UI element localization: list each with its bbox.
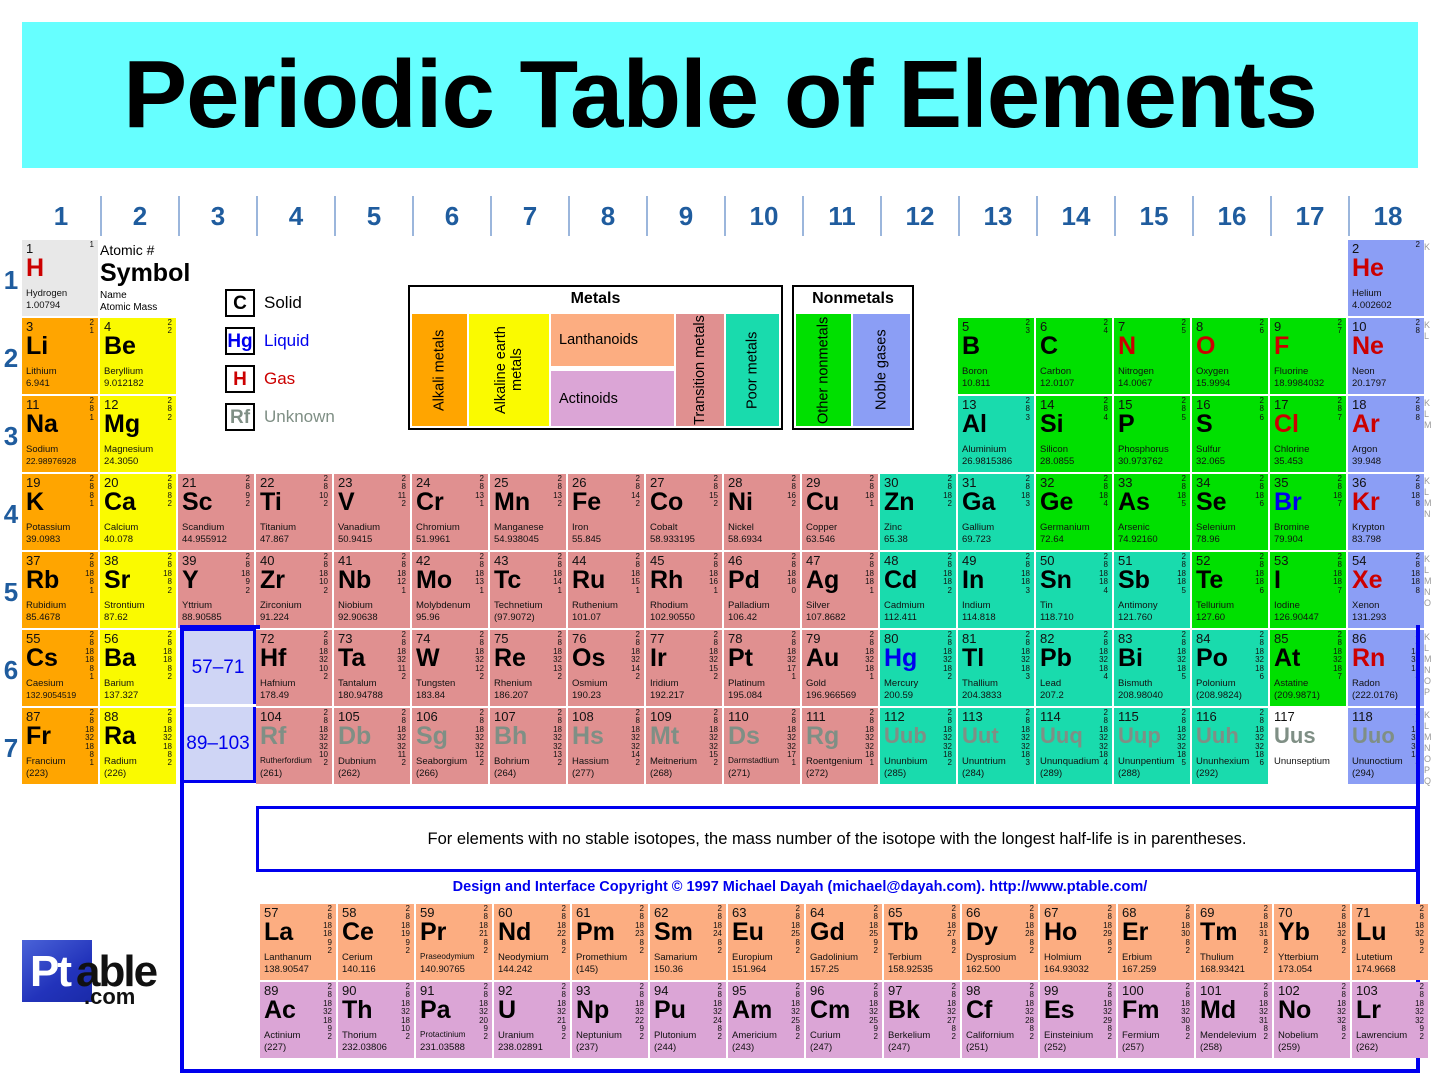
element-cell-Bi[interactable]: 83281832185BiBismuth208.98040	[1114, 630, 1190, 706]
element-name: Sodium	[26, 444, 58, 455]
element-cell-Fe[interactable]: 2628142FeIron55.845	[568, 474, 644, 550]
atomic-mass: 58.6934	[728, 534, 762, 545]
element-cell-At[interactable]: 85281832187AtAstatine(209.9871)	[1270, 630, 1346, 706]
element-symbol: Xe	[1352, 567, 1383, 593]
element-name: Iridium	[650, 678, 679, 689]
element-symbol: Lr	[1356, 997, 1381, 1023]
atomic-mass: (259)	[1278, 1042, 1300, 1053]
electron-shells: 28183	[1021, 475, 1030, 509]
element-cell-Te[interactable]: 522818186TeTellurium127.60	[1192, 552, 1268, 628]
element-name: Dubnium	[338, 756, 376, 767]
electron-shells: 28183232181	[865, 709, 874, 768]
element-cell-Rh[interactable]: 452818161RhRhodium102.90550	[646, 552, 722, 628]
atomic-mass: 63.546	[806, 534, 835, 545]
electron-shells: 26	[1260, 319, 1264, 336]
element-cell-Eu[interactable]: 6328182582EuEuropium151.964	[728, 904, 804, 980]
shell-letter-L: L	[1424, 643, 1438, 654]
element-cell-Hs[interactable]: 10828183232142HsHassium(277)	[568, 708, 644, 784]
element-symbol: Lu	[1356, 919, 1387, 945]
element-cell-Am[interactable]: 952818322582AmAmericium(243)	[728, 982, 804, 1058]
atomic-mass: (247)	[888, 1042, 910, 1053]
element-symbol: Sc	[182, 489, 213, 515]
element-name: Niobium	[338, 600, 373, 611]
element-cell-Tl[interactable]: 81281832183TlThallium204.3833	[958, 630, 1034, 706]
element-name: Boron	[962, 366, 987, 377]
element-cell-Co[interactable]: 2728152CoCobalt58.933195	[646, 474, 722, 550]
element-cell-Uus[interactable]: 117UusUnunseptium	[1270, 708, 1346, 784]
electron-shells: 2	[1416, 241, 1420, 249]
element-cell-Tb[interactable]: 6528182782TbTerbium158.92535	[884, 904, 960, 980]
electron-shells: 281832186	[1255, 631, 1264, 681]
logo-text-com: .com	[84, 986, 135, 1008]
element-name: Caesium	[26, 678, 64, 689]
element-cell-Yb[interactable]: 7028183282YbYtterbium173.054	[1274, 904, 1350, 980]
element-cell-Mg[interactable]: 12282MgMagnesium24.3050	[100, 396, 176, 472]
atomic-mass: 106.42	[728, 612, 757, 623]
element-cell-Lu[interactable]: 7128183292LuLutetium174.9668	[1352, 904, 1428, 980]
atomic-mass: (257)	[1122, 1042, 1144, 1053]
element-cell-Ce[interactable]: 5828181992CeCerium140.116	[338, 904, 414, 980]
atomic-mass: 140.90765	[420, 964, 465, 975]
copyright-notice: Design and Interface Copyright © 1997 Mi…	[180, 876, 1420, 898]
shell-letter-K: K	[1424, 320, 1438, 331]
electron-shells: 2818322882	[1025, 983, 1034, 1042]
legend-chip-other-nonmetals: Other nonmetals	[796, 314, 851, 426]
state-legend-row-gas: HGas	[225, 361, 335, 397]
element-cell-Rb[interactable]: 37281881RbRubidium85.4678	[22, 552, 98, 628]
element-cell-Pu[interactable]: 942818322482PuPlutonium(244)	[650, 982, 726, 1058]
element-cell-Kr[interactable]: 3628188KrKrypton83.798	[1348, 474, 1424, 550]
element-symbol: Ca	[104, 489, 136, 515]
key-label-atomic-number: Atomic #	[100, 242, 154, 258]
element-cell-Y[interactable]: 39281892YYttrium88.90585	[178, 552, 254, 628]
shell-label-period-3: KLM	[1424, 398, 1438, 431]
shell-letter-O: O	[1424, 676, 1438, 687]
element-name: Thulium	[1200, 952, 1234, 963]
electron-shells: 2818102	[319, 553, 328, 595]
element-name: Lead	[1040, 678, 1061, 689]
page-title-banner: Periodic Table of Elements	[22, 22, 1418, 168]
element-cell-Er[interactable]: 6828183082ErErbium167.259	[1118, 904, 1194, 980]
element-cell-Br[interactable]: 3528187BrBromine79.904	[1270, 474, 1346, 550]
element-cell-Th[interactable]: 9028183218102ThThorium232.03806	[338, 982, 414, 1058]
element-cell-He[interactable]: 22HeHelium4.002602	[1348, 240, 1424, 316]
key-label-name: Name	[100, 290, 127, 301]
element-cell-Ca[interactable]: 202882CaCalcium40.078	[100, 474, 176, 550]
electron-shells: 28181	[865, 475, 874, 509]
element-name: Erbium	[1122, 952, 1152, 963]
atomic-mass: 102.90550	[650, 612, 695, 623]
element-cell-Ru[interactable]: 442818151RuRuthenium101.07	[568, 552, 644, 628]
atomic-mass: (222.0176)	[1352, 690, 1398, 701]
element-cell-Ds[interactable]: 11028183232171DsDarmstadtium(271)	[724, 708, 800, 784]
element-cell-Pb[interactable]: 82281832184PbLead207.2	[1036, 630, 1112, 706]
element-symbol: Am	[732, 997, 772, 1023]
state-legend-label: Gas	[264, 369, 295, 389]
atomic-number: 117	[1274, 709, 1295, 724]
electron-shells: 28102	[319, 475, 328, 509]
element-cell-Pm[interactable]: 6128182382PmPromethium(145)	[572, 904, 648, 980]
element-name: Neptunium	[576, 1030, 622, 1041]
atomic-mass: (97.9072)	[494, 612, 535, 623]
electron-shells: 2818180	[787, 553, 796, 595]
electron-shells: 28181892	[323, 905, 332, 955]
electron-shells: 2818322982	[1103, 983, 1112, 1042]
legend-metals-label: Metals	[571, 290, 621, 308]
element-cell-Uuh[interactable]: 11628183232186UuhUnunhexium(292)	[1192, 708, 1268, 784]
element-cell-Rn[interactable]: 86281832188RnRadon(222.0176)	[1348, 630, 1424, 706]
electron-shells: 28183218102	[401, 983, 410, 1042]
element-cell-Lr[interactable]: 1032818323292LrLawrencium(262)	[1352, 982, 1428, 1058]
element-cell-Re[interactable]: 75281832132ReRhenium186.207	[490, 630, 566, 706]
element-cell-Db[interactable]: 10528183232112DbDubnium(262)	[334, 708, 410, 784]
element-cell-Hf[interactable]: 72281832102HfHafnium178.49	[256, 630, 332, 706]
element-cell-No[interactable]: 1022818323282NoNobelium(259)	[1274, 982, 1350, 1058]
element-cell-K[interactable]: 192881KPotassium39.0983	[22, 474, 98, 550]
element-symbol: Ti	[260, 489, 282, 515]
element-cell-Cs[interactable]: 5528181881CsCaesium132.9054519	[22, 630, 98, 706]
element-cell-Po[interactable]: 84281832186PoPolonium(208.9824)	[1192, 630, 1268, 706]
element-symbol: Kr	[1352, 489, 1380, 515]
element-cell-Hg[interactable]: 80281832182HgMercury200.59	[880, 630, 956, 706]
element-cell-Ir[interactable]: 77281832152IrIridium192.217	[646, 630, 722, 706]
element-cell-Ne[interactable]: 1028NeNeon20.1797	[1348, 318, 1424, 394]
element-cell-Ac[interactable]: 892818321892AcActinium(227)	[260, 982, 336, 1058]
atomic-mass: 126.90447	[1274, 612, 1319, 623]
element-cell-Sn[interactable]: 502818184SnTin118.710	[1036, 552, 1112, 628]
element-symbol: Cm	[810, 997, 850, 1023]
electron-shells: 22	[168, 319, 172, 336]
atomic-mass: 200.59	[884, 690, 913, 701]
element-symbol: Pd	[728, 567, 760, 593]
element-cell-Sr[interactable]: 38281882SrStrontium87.62	[100, 552, 176, 628]
element-cell-Ar[interactable]: 18288ArArgon39.948	[1348, 396, 1424, 472]
atomic-mass: 190.23	[572, 690, 601, 701]
element-name: Aluminium	[962, 444, 1006, 455]
atomic-mass: 20.1797	[1352, 378, 1386, 389]
atomic-mass: 30.973762	[1118, 456, 1163, 467]
element-name: Beryllium	[104, 366, 143, 377]
element-cell-Os[interactable]: 76281832142OsOsmium190.23	[568, 630, 644, 706]
atomic-mass: (209.9871)	[1274, 690, 1320, 701]
element-symbol: Co	[650, 489, 683, 515]
element-cell-F[interactable]: 927FFluorine18.9984032	[1270, 318, 1346, 394]
actinoid-range-label: 89–103	[186, 733, 249, 755]
element-symbol: Uut	[962, 723, 999, 749]
element-cell-Pt[interactable]: 78281832171PtPlatinum195.084	[724, 630, 800, 706]
element-cell-Bh[interactable]: 10728183232132BhBohrium(264)	[490, 708, 566, 784]
group-header-16: 16	[1192, 196, 1270, 236]
atomic-mass: 208.98040	[1118, 690, 1163, 701]
element-name: Fermium	[1122, 1030, 1159, 1041]
shell-letter-M: M	[1424, 420, 1438, 431]
shell-letter-L: L	[1424, 331, 1438, 342]
element-cell-Cf[interactable]: 982818322882CfCalifornium(251)	[962, 982, 1038, 1058]
element-cell-Pd[interactable]: 462818180PdPalladium106.42	[724, 552, 800, 628]
element-cell-B[interactable]: 523BBoron10.811	[958, 318, 1034, 394]
element-cell-Ba[interactable]: 5628181882BaBarium137.327	[100, 630, 176, 706]
element-symbol: S	[1196, 411, 1213, 437]
element-cell-Ag[interactable]: 472818181AgSilver107.8682	[802, 552, 878, 628]
element-cell-Tm[interactable]: 6928183182TmThulium168.93421	[1196, 904, 1272, 980]
element-cell-Au[interactable]: 79281832181AuGold196.966569	[802, 630, 878, 706]
element-cell-Sc[interactable]: 212892ScScandium44.955912	[178, 474, 254, 550]
element-cell-H[interactable]: 11HHydrogen1.00794	[22, 240, 98, 316]
element-name: Hassium	[572, 756, 609, 767]
atomic-mass: (145)	[576, 964, 598, 975]
electron-shells: 28182	[943, 475, 952, 509]
element-cell-Pa[interactable]: 912818322092PaProtactinium231.03588	[416, 982, 492, 1058]
shell-letter-N: N	[1424, 587, 1438, 598]
element-cell-Uub[interactable]: 11228183232182UubUnunbium(285)	[880, 708, 956, 784]
element-name: Terbium	[888, 952, 922, 963]
electron-shells: 28187	[1333, 475, 1342, 509]
element-cell-Be[interactable]: 422BeBeryllium9.012182	[100, 318, 176, 394]
element-cell-Li[interactable]: 321LiLithium6.941	[22, 318, 98, 394]
element-cell-Sg[interactable]: 10628183232122SgSeaborgium(266)	[412, 708, 488, 784]
element-cell-Bk[interactable]: 972818322782BkBerkelium(247)	[884, 982, 960, 1058]
element-cell-Ni[interactable]: 2828162NiNickel58.6934	[724, 474, 800, 550]
element-cell-Mt[interactable]: 10928183232152MtMeitnerium(268)	[646, 708, 722, 784]
element-cell-Zr[interactable]: 402818102ZrZirconium91.224	[256, 552, 332, 628]
element-cell-Cm[interactable]: 962818322592CmCurium(247)	[806, 982, 882, 1058]
element-cell-Ge[interactable]: 3228184GeGermanium72.64	[1036, 474, 1112, 550]
element-symbol: Li	[26, 333, 48, 359]
electron-shells: 24	[1104, 319, 1108, 336]
element-cell-W[interactable]: 74281832122WTungsten183.84	[412, 630, 488, 706]
element-symbol: Tc	[494, 567, 521, 593]
element-symbol: Ho	[1044, 919, 1077, 945]
element-symbol: Cd	[884, 567, 917, 593]
electron-shells: 28183282	[1337, 905, 1346, 955]
electron-shells: 281832187	[1333, 631, 1342, 681]
element-cell-Np[interactable]: 932818322292NpNeptunium(237)	[572, 982, 648, 1058]
atomic-mass: 51.9961	[416, 534, 450, 545]
element-cell-Mo[interactable]: 422818131MoMolybdenum95.96	[412, 552, 488, 628]
atomic-mass: 44.955912	[182, 534, 227, 545]
element-name: Berkelium	[888, 1030, 930, 1041]
group-header-7: 7	[490, 196, 568, 236]
element-cell-As[interactable]: 3328185AsArsenic74.92160	[1114, 474, 1190, 550]
electron-shells: 28186	[1255, 475, 1264, 509]
element-cell-Dy[interactable]: 6628182882DyDysprosium162.500	[962, 904, 1038, 980]
element-cell-Pr[interactable]: 5928182182PrPraseodymium140.90765	[416, 904, 492, 980]
element-cell-Sb[interactable]: 512818185SbAntimony121.760	[1114, 552, 1190, 628]
electron-shells: 21	[90, 319, 94, 336]
element-symbol: Nb	[338, 567, 371, 593]
electron-shells: 281832185	[1177, 631, 1186, 681]
electron-shells: 2818322782	[947, 983, 956, 1042]
element-cell-La[interactable]: 5728181892LaLanthanum138.90547	[260, 904, 336, 980]
shell-letter-M: M	[1424, 732, 1438, 743]
element-cell-Ta[interactable]: 73281832112TaTantalum180.94788	[334, 630, 410, 706]
electron-shells: 28181882	[163, 631, 172, 681]
element-cell-Ti[interactable]: 2228102TiTitanium47.867	[256, 474, 332, 550]
element-name: Tellurium	[1196, 600, 1234, 611]
element-cell-U[interactable]: 922818322192UUranium238.02891	[494, 982, 570, 1058]
electron-shells: 2818131	[475, 553, 484, 595]
shell-letter-K: K	[1424, 398, 1438, 409]
atomic-mass: (237)	[576, 1042, 598, 1053]
element-cell-Si[interactable]: 14284SiSilicon28.0855	[1036, 396, 1112, 472]
actinoid-range-placeholder[interactable]: 89–103	[180, 707, 256, 783]
element-symbol: Fm	[1122, 997, 1160, 1023]
element-symbol: Hf	[260, 645, 286, 671]
element-cell-Uup[interactable]: 11528183232185UupUnunpentium(288)	[1114, 708, 1190, 784]
lanthanoid-range-label: 57–71	[192, 657, 245, 679]
element-cell-Xe[interactable]: 542818188XeXenon131.293	[1348, 552, 1424, 628]
element-cell-Ho[interactable]: 6728182982HoHolmium164.93032	[1040, 904, 1116, 980]
electron-shells: 28182882	[1025, 905, 1034, 955]
atomic-number: 113	[962, 709, 983, 724]
element-symbol: Er	[1122, 919, 1148, 945]
element-name: Gold	[806, 678, 826, 689]
element-cell-Gd[interactable]: 6428182592GdGadolinium157.25	[806, 904, 882, 980]
electron-shells: 28131	[475, 475, 484, 509]
element-name: Curium	[810, 1030, 841, 1041]
element-name: Oxygen	[1196, 366, 1229, 377]
element-symbol: Mt	[650, 723, 679, 749]
element-cell-Md[interactable]: 1012818323182MdMendelevium(258)	[1196, 982, 1272, 1058]
atomic-mass: 1.00794	[26, 300, 60, 311]
element-name: Cobalt	[650, 522, 677, 533]
element-cell-Fr[interactable]: 872818321881FrFrancium(223)	[22, 708, 98, 784]
electron-shells: 2818182	[943, 553, 952, 595]
element-name: Tungsten	[416, 678, 455, 689]
element-cell-Sm[interactable]: 6228182482SmSamarium150.36	[650, 904, 726, 980]
atomic-mass: (277)	[572, 768, 594, 779]
element-cell-Ga[interactable]: 3128183GaGallium69.723	[958, 474, 1034, 550]
element-cell-V[interactable]: 2328112VVanadium50.9415	[334, 474, 410, 550]
atomic-mass: 164.93032	[1044, 964, 1089, 975]
atomic-mass: 178.49	[260, 690, 289, 701]
atomic-mass: 168.93421	[1200, 964, 1245, 975]
atomic-mass: 140.116	[342, 964, 376, 975]
element-symbol: H	[26, 255, 44, 281]
element-name: Titanium	[260, 522, 296, 533]
legend-chip-alkaline-earth-metals: Alkaline earth metals	[469, 314, 549, 426]
atomic-mass: 107.8682	[806, 612, 846, 623]
element-cell-Ra[interactable]: 882818321882RaRadium(226)	[100, 708, 176, 784]
atomic-mass: 18.9984032	[1274, 378, 1324, 389]
electron-shells: 2892	[246, 475, 250, 509]
element-cell-N[interactable]: 725NNitrogen14.0067	[1114, 318, 1190, 394]
element-cell-Fm[interactable]: 1002818323082FmFermium(257)	[1118, 982, 1194, 1058]
shell-letter-L: L	[1424, 565, 1438, 576]
element-symbol: Ne	[1352, 333, 1384, 359]
element-symbol: At	[1274, 645, 1300, 671]
element-cell-Cu[interactable]: 2928181CuCopper63.546	[802, 474, 878, 550]
electron-shells: 281832188	[1411, 631, 1420, 681]
element-cell-Es[interactable]: 992818322982EsEinsteinium(252)	[1040, 982, 1116, 1058]
element-cell-O[interactable]: 826OOxygen15.9994	[1192, 318, 1268, 394]
element-cell-Nb[interactable]: 412818121NbNiobium92.90638	[334, 552, 410, 628]
element-symbol: Ta	[338, 645, 365, 671]
atomic-mass: 10.811	[962, 378, 990, 389]
element-symbol: Mo	[416, 567, 452, 593]
period-number-2: 2	[2, 319, 20, 397]
state-legend-symbol-Rf: Rf	[225, 403, 255, 431]
atomic-mass: (261)	[260, 768, 282, 779]
element-cell-I[interactable]: 532818187IIodine126.90447	[1270, 552, 1346, 628]
element-cell-Rf[interactable]: 10428183232102RfRutherfordium(261)	[256, 708, 332, 784]
element-cell-Cl[interactable]: 17287ClChlorine35.453	[1270, 396, 1346, 472]
element-symbol: K	[26, 489, 44, 515]
element-symbol: N	[1118, 333, 1136, 359]
element-symbol: Gd	[810, 919, 845, 945]
electron-shells: 25	[1182, 319, 1186, 336]
element-cell-Mn[interactable]: 2528132MnManganese54.938045	[490, 474, 566, 550]
electron-shells: 28183232188	[1411, 709, 1420, 768]
element-symbol: Uuo	[1352, 723, 1395, 749]
electron-shells: 28162	[787, 475, 796, 509]
element-cell-Cr[interactable]: 2428131CrChromium51.9961	[412, 474, 488, 550]
element-cell-In[interactable]: 492818183InIndium114.818	[958, 552, 1034, 628]
element-name: Samarium	[654, 952, 697, 963]
element-symbol: Dy	[966, 919, 998, 945]
element-name: Helium	[1352, 288, 1382, 299]
element-name: Ununbium	[884, 756, 927, 767]
element-cell-Cd[interactable]: 482818182CdCadmium112.411	[880, 552, 956, 628]
element-name: Chlorine	[1274, 444, 1309, 455]
element-name: Strontium	[104, 600, 145, 611]
atomic-mass: 127.60	[1196, 612, 1225, 623]
atomic-mass: 167.259	[1122, 964, 1156, 975]
lanthanoid-range-placeholder[interactable]: 57–71	[180, 628, 256, 704]
atomic-mass: 162.500	[966, 964, 1000, 975]
element-cell-Se[interactable]: 3428186SeSelenium78.96	[1192, 474, 1268, 550]
shell-letter-K: K	[1424, 554, 1438, 565]
element-cell-Al[interactable]: 13283AlAluminium26.9815386	[958, 396, 1034, 472]
element-symbol: Ir	[650, 645, 667, 671]
element-symbol: Os	[572, 645, 605, 671]
shell-letter-N: N	[1424, 665, 1438, 676]
element-cell-P[interactable]: 15285PPhosphorus30.973762	[1114, 396, 1190, 472]
atomic-mass: 112.411	[884, 612, 917, 623]
element-symbol: Cr	[416, 489, 444, 515]
electron-shells: 284	[1104, 397, 1108, 422]
electron-shells: 281881	[85, 553, 94, 595]
element-symbol: Cl	[1274, 411, 1299, 437]
element-cell-Uuo[interactable]: 11828183232188UuoUnunoctium(294)	[1348, 708, 1424, 784]
electron-shells: 28183232122	[475, 709, 484, 768]
atomic-mass: 50.9415	[338, 534, 372, 545]
element-cell-Nd[interactable]: 6028182282NdNeodymium144.242	[494, 904, 570, 980]
element-cell-Uut[interactable]: 11328183232183UutUnuntrium(284)	[958, 708, 1034, 784]
legend-chip-lanthanoids: Lanthanoids	[551, 314, 674, 366]
ptable-logo[interactable]: Pt able .com	[14, 936, 164, 1014]
atomic-mass: (292)	[1196, 768, 1218, 779]
element-cell-Tc[interactable]: 432818141TcTechnetium(97.9072)	[490, 552, 566, 628]
element-cell-Uuq[interactable]: 11428183232184UuqUnunquadium(289)	[1036, 708, 1112, 784]
element-cell-Na[interactable]: 11281NaSodium22.98976928	[22, 396, 98, 472]
element-cell-C[interactable]: 624CCarbon12.0107	[1036, 318, 1112, 394]
element-cell-Rg[interactable]: 11128183232181RgRoentgenium(272)	[802, 708, 878, 784]
electron-shells: 283	[1026, 397, 1030, 422]
electron-shells: 28183232132	[553, 709, 562, 768]
state-legend-row-liquid: HgLiquid	[225, 323, 335, 359]
element-name: Astatine	[1274, 678, 1308, 689]
atomic-mass: (247)	[810, 1042, 832, 1053]
group-header-6: 6	[412, 196, 490, 236]
element-name: Antimony	[1118, 600, 1158, 611]
state-legend-row-unknown: RfUnknown	[225, 399, 335, 435]
atomic-mass: 196.966569	[806, 690, 856, 701]
electron-shells: 28183232112	[397, 709, 406, 768]
element-cell-Zn[interactable]: 3028182ZnZinc65.38	[880, 474, 956, 550]
element-symbol: Ar	[1352, 411, 1380, 437]
element-cell-S[interactable]: 16286SSulfur32.065	[1192, 396, 1268, 472]
